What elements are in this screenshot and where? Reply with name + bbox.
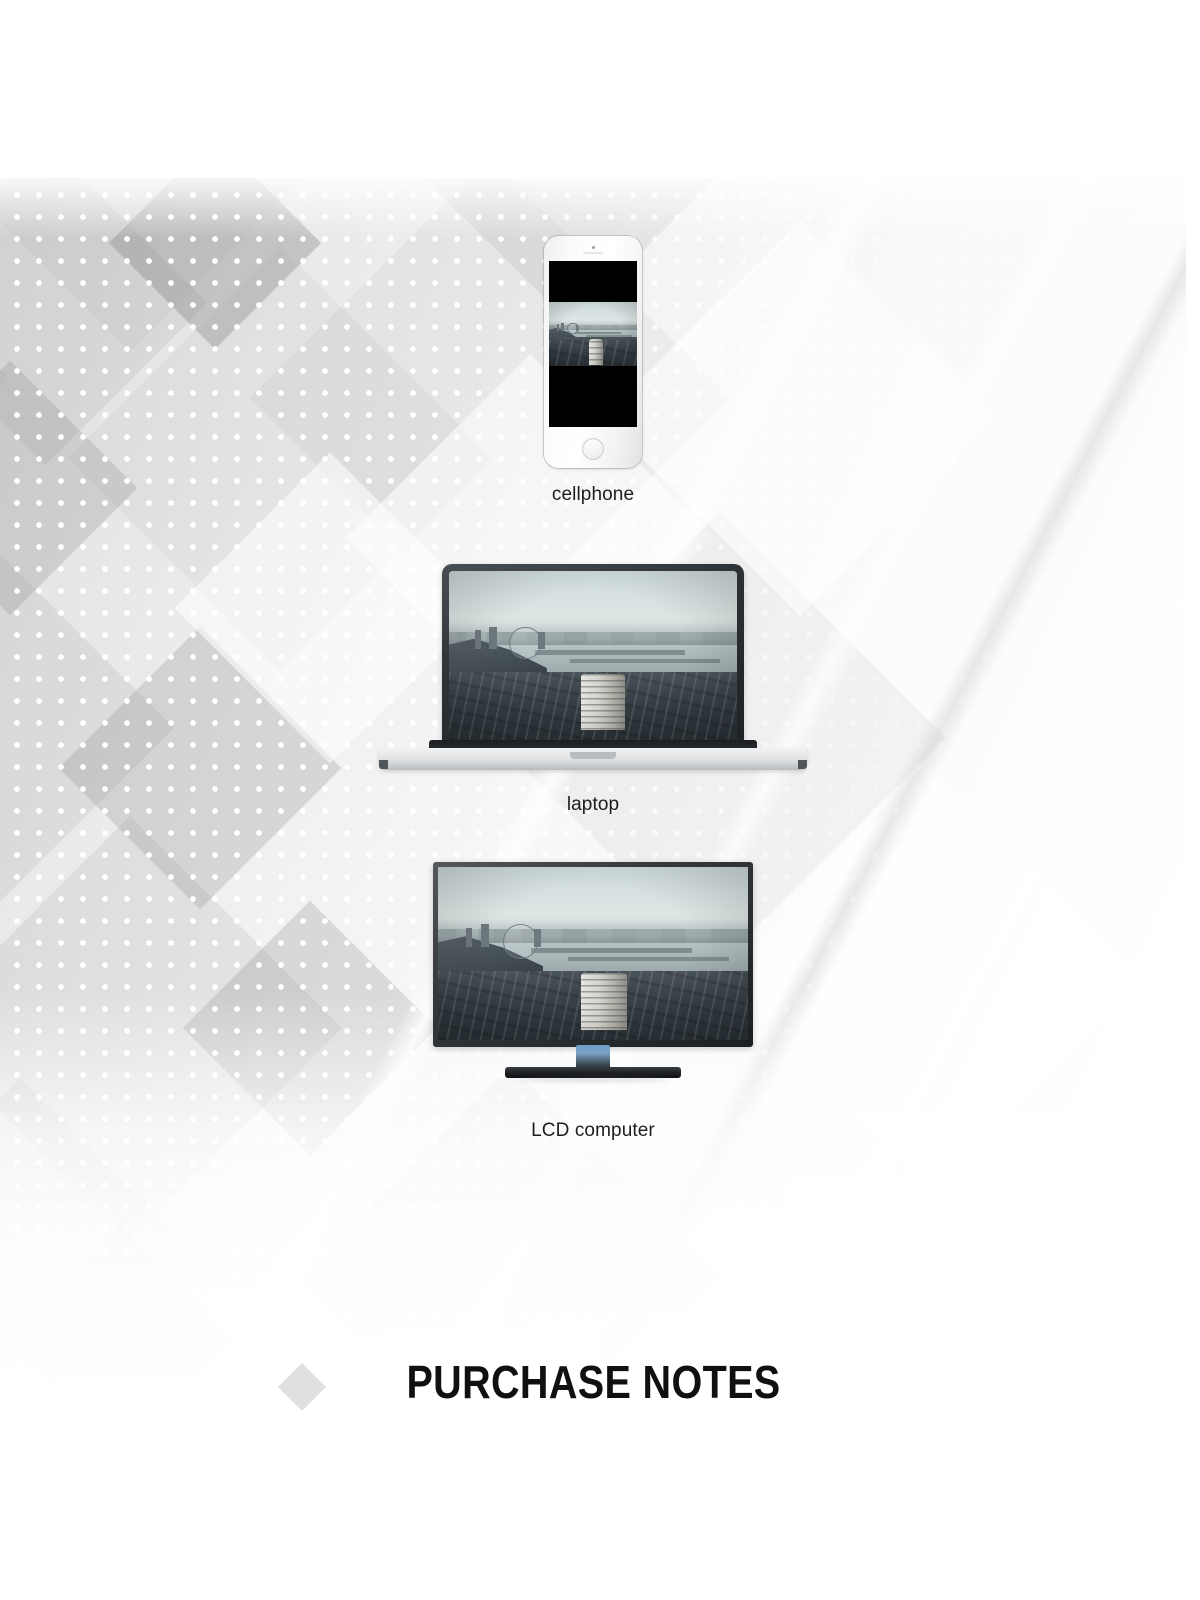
laptop-foot-left xyxy=(379,760,388,769)
device-label-lcd-computer: LCD computer xyxy=(0,1120,1186,1142)
purchase-notes-section: PURCHASE NOTES color may differ in diffe… xyxy=(0,1358,1186,1410)
purchase-notes-title-row: PURCHASE NOTES xyxy=(0,1358,1186,1406)
laptop-body xyxy=(373,546,813,778)
laptop-screen xyxy=(449,571,737,740)
monitor-screen xyxy=(438,867,748,1040)
laptop-front-notch xyxy=(570,752,616,759)
london-cityscape-artwork xyxy=(438,867,748,1040)
monitor-body xyxy=(423,862,763,1104)
phone-earpiece-icon xyxy=(583,252,603,254)
monitor-bezel xyxy=(433,862,753,1047)
device-lcd-computer: LCD computer xyxy=(0,862,1186,1142)
cellphone-screen-image xyxy=(549,302,637,366)
device-label-laptop: laptop xyxy=(0,794,1186,816)
device-laptop: laptop xyxy=(0,546,1186,816)
cellphone-body xyxy=(544,236,642,468)
london-cityscape-artwork xyxy=(449,571,737,740)
patterned-background-banner: cellphone xyxy=(0,178,1186,1410)
device-label-cellphone: cellphone xyxy=(0,484,1186,506)
top-fade-overlay xyxy=(0,178,1186,238)
monitor-stand-shadow xyxy=(518,1077,668,1082)
laptop-lid xyxy=(442,564,744,751)
product-info-graphic: cellphone xyxy=(0,0,1200,1600)
phone-front-camera-icon xyxy=(592,246,595,249)
decorative-diamond-icon xyxy=(278,1363,326,1410)
phone-home-button[interactable] xyxy=(582,438,604,460)
cellphone-screen xyxy=(549,261,637,427)
purchase-notes-title: PURCHASE NOTES xyxy=(406,1358,780,1406)
device-cellphone: cellphone xyxy=(0,236,1186,506)
laptop-base xyxy=(373,740,813,770)
london-cityscape-artwork xyxy=(549,302,637,366)
laptop-foot-right xyxy=(798,760,807,769)
